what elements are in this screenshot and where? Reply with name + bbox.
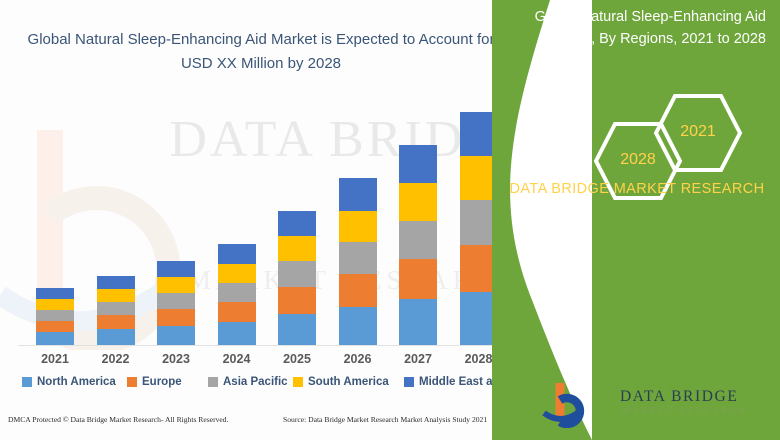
bar-segment[interactable] — [36, 321, 74, 332]
bar-2023[interactable] — [157, 261, 195, 345]
bar-segment[interactable] — [278, 261, 316, 287]
bar-segment[interactable] — [339, 242, 377, 274]
chart-title: Global Natural Sleep-Enhancing Aid Marke… — [26, 28, 496, 76]
bar-2025[interactable] — [278, 211, 316, 345]
x-axis-label-2021: 2021 — [25, 352, 85, 366]
panel-curve-shape — [492, 0, 592, 440]
legend-label: South America — [308, 376, 389, 388]
bar-segment[interactable] — [36, 288, 74, 299]
bar-2026[interactable] — [339, 178, 377, 345]
legend-swatch-icon — [293, 377, 303, 387]
x-axis-labels: 20212022202320242025202620272028 — [0, 352, 530, 372]
bar-segment[interactable] — [97, 302, 135, 315]
infographic-root: DATA BRIDGE MARKET RESEARCH Global Natur… — [0, 0, 780, 440]
bar-segment[interactable] — [399, 299, 437, 345]
bar-segment[interactable] — [278, 211, 316, 236]
x-axis-label-2025: 2025 — [267, 352, 327, 366]
x-axis-line — [18, 345, 530, 346]
bar-segment[interactable] — [157, 261, 195, 277]
side-panel: Global Natural Sleep-Enhancing Aid Marke… — [492, 0, 780, 440]
bar-segment[interactable] — [399, 221, 437, 259]
bar-segment[interactable] — [157, 309, 195, 326]
bar-segment[interactable] — [218, 264, 256, 283]
bar-segment[interactable] — [218, 302, 256, 322]
legend-item-europe[interactable]: Europe — [127, 376, 182, 388]
legend-item-south-america[interactable]: South America — [293, 376, 389, 388]
legend-swatch-icon — [404, 377, 414, 387]
bar-segment[interactable] — [399, 259, 437, 299]
bar-segment[interactable] — [97, 329, 135, 345]
bar-segment[interactable] — [399, 145, 437, 183]
legend-swatch-icon — [127, 377, 137, 387]
bar-segment[interactable] — [339, 211, 377, 242]
bar-segment[interactable] — [218, 322, 256, 345]
bar-segment[interactable] — [97, 315, 135, 329]
bar-segment[interactable] — [97, 276, 135, 289]
legend-swatch-icon — [22, 377, 32, 387]
panel-title: Global Natural Sleep-Enhancing Aid Marke… — [514, 6, 766, 50]
bar-segment[interactable] — [36, 310, 74, 321]
legend-label: North America — [37, 376, 116, 388]
bar-segment[interactable] — [97, 289, 135, 302]
footer-source: Source: Data Bridge Market Research Mark… — [283, 415, 487, 424]
chart-legend: North AmericaEuropeAsia PacificSouth Ame… — [0, 376, 532, 394]
panel-brand-name: DATA BRIDGE MARKET RESEARCH — [506, 178, 768, 201]
x-axis-label-2023: 2023 — [146, 352, 206, 366]
bar-segment[interactable] — [157, 326, 195, 345]
bar-segment[interactable] — [36, 332, 74, 345]
company-logo: DATA BRIDGE MARKET RESEARCH — [542, 380, 772, 430]
hexagon-2028-label: 2028 — [592, 151, 684, 169]
x-axis-label-2026: 2026 — [328, 352, 388, 366]
bar-segment[interactable] — [339, 274, 377, 307]
bar-segment[interactable] — [278, 314, 316, 345]
chart-plot-area — [0, 100, 530, 350]
bar-2021[interactable] — [36, 288, 74, 345]
bar-2024[interactable] — [218, 244, 256, 345]
x-axis-label-2027: 2027 — [388, 352, 448, 366]
bar-segment[interactable] — [339, 307, 377, 345]
bar-segment[interactable] — [278, 236, 316, 261]
bar-2027[interactable] — [399, 145, 437, 345]
bar-segment[interactable] — [278, 287, 316, 314]
legend-label: Asia Pacific — [223, 376, 288, 388]
legend-item-north-america[interactable]: North America — [22, 376, 116, 388]
legend-item-asia-pacific[interactable]: Asia Pacific — [208, 376, 288, 388]
bar-segment[interactable] — [218, 283, 256, 302]
bar-segment[interactable] — [339, 178, 377, 211]
logo-name: DATA BRIDGE — [620, 388, 738, 406]
bar-2022[interactable] — [97, 276, 135, 345]
bar-segment[interactable] — [399, 183, 437, 221]
data-bridge-b-icon — [542, 380, 614, 428]
footer-copyright: DMCA Protected © Data Bridge Market Rese… — [8, 415, 228, 424]
legend-swatch-icon — [208, 377, 218, 387]
bar-segment[interactable] — [157, 293, 195, 309]
bar-segment[interactable] — [36, 299, 74, 310]
legend-label: Europe — [142, 376, 182, 388]
logo-tagline: MARKET RESEARCH — [622, 406, 747, 415]
x-axis-label-2024: 2024 — [207, 352, 267, 366]
x-axis-label-2022: 2022 — [86, 352, 146, 366]
bar-segment[interactable] — [157, 277, 195, 293]
bar-segment[interactable] — [218, 244, 256, 264]
